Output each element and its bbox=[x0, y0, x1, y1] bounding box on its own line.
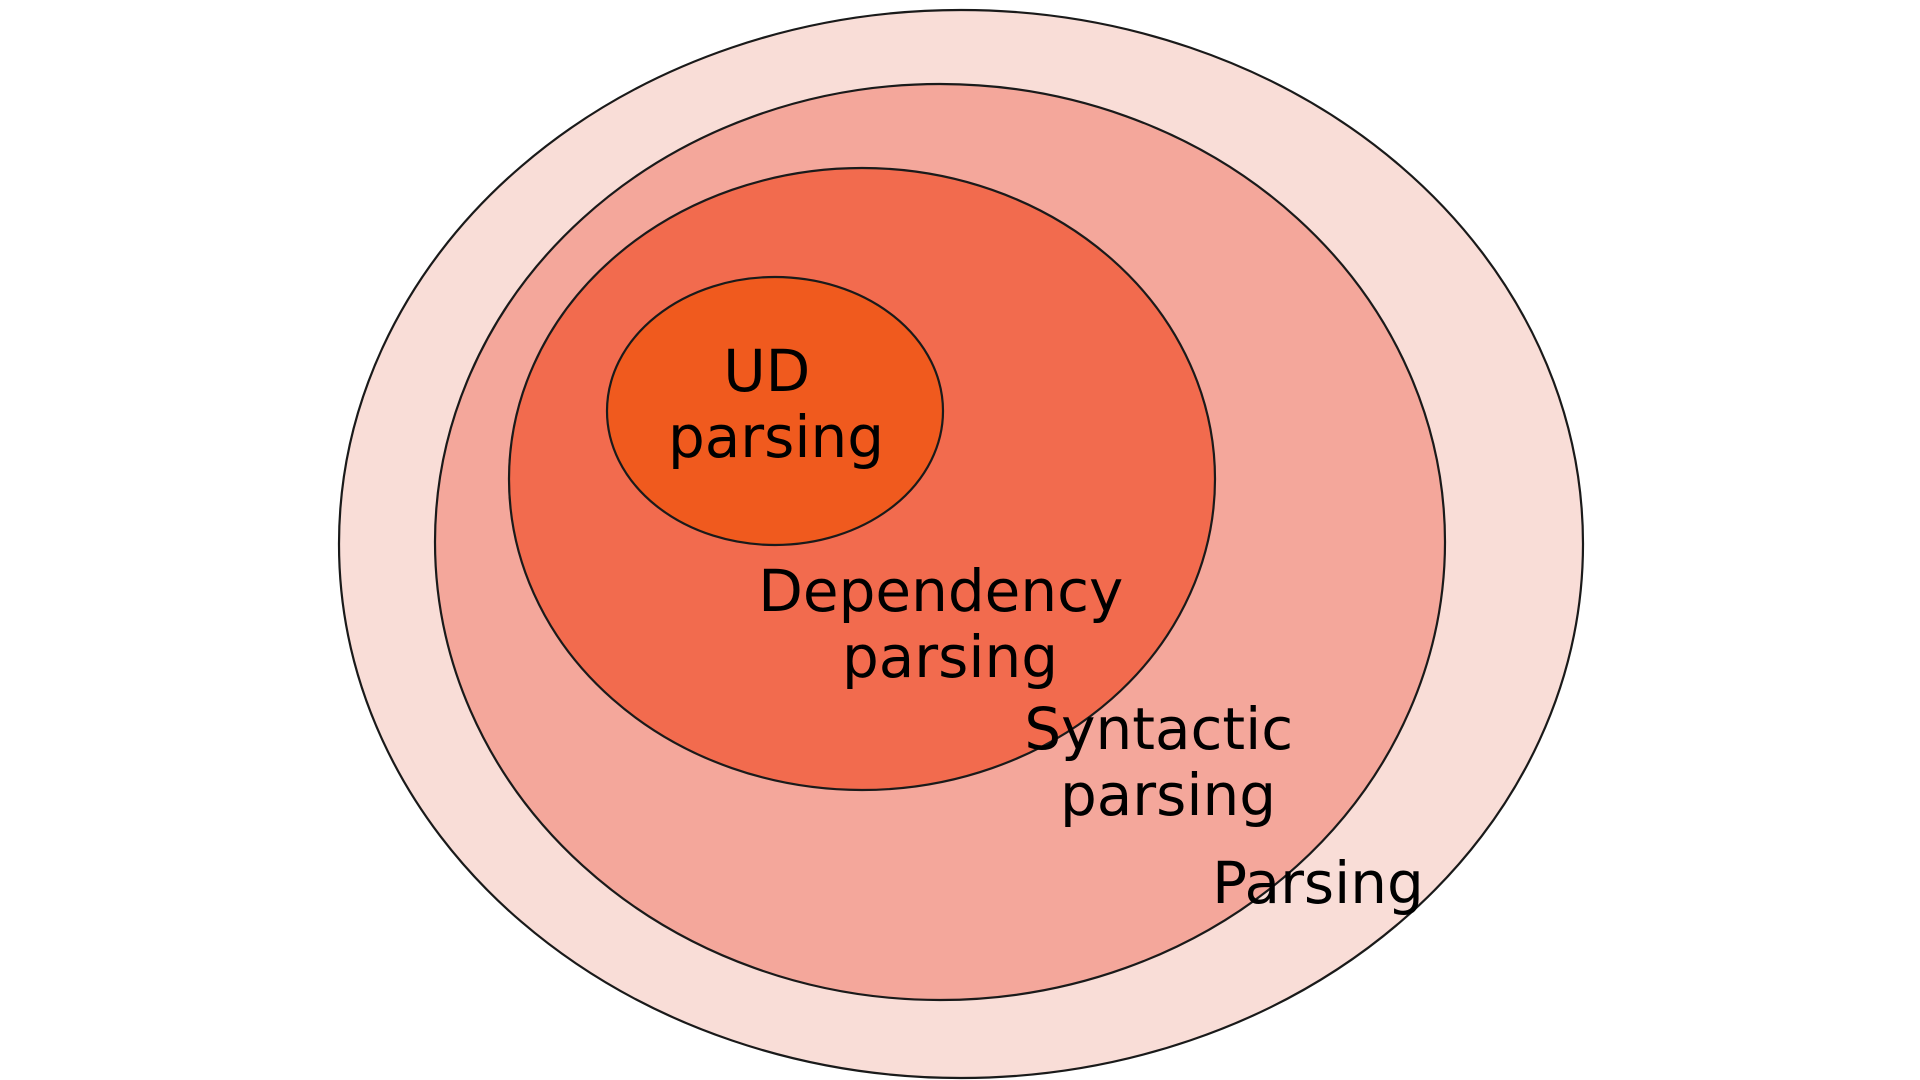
label-dependency-parsing-line2: parsing bbox=[842, 623, 1058, 691]
label-parsing-line1: Parsing bbox=[1212, 849, 1424, 917]
label-parsing: Parsing bbox=[1212, 849, 1424, 917]
label-syntactic-parsing-line1: Syntactic bbox=[1024, 695, 1293, 763]
label-ud-parsing-line2: parsing bbox=[668, 403, 884, 471]
label-syntactic-parsing: Syntactic parsing bbox=[1024, 695, 1311, 829]
label-syntactic-parsing-line2: parsing bbox=[1060, 761, 1276, 829]
label-ud-parsing-line1: UD bbox=[723, 337, 810, 405]
euler-diagram-svg: UD parsing Dependency parsing Syntactic … bbox=[0, 0, 1920, 1080]
label-dependency-parsing-line1: Dependency bbox=[758, 557, 1123, 625]
euler-diagram-canvas: UD parsing Dependency parsing Syntactic … bbox=[0, 0, 1920, 1080]
